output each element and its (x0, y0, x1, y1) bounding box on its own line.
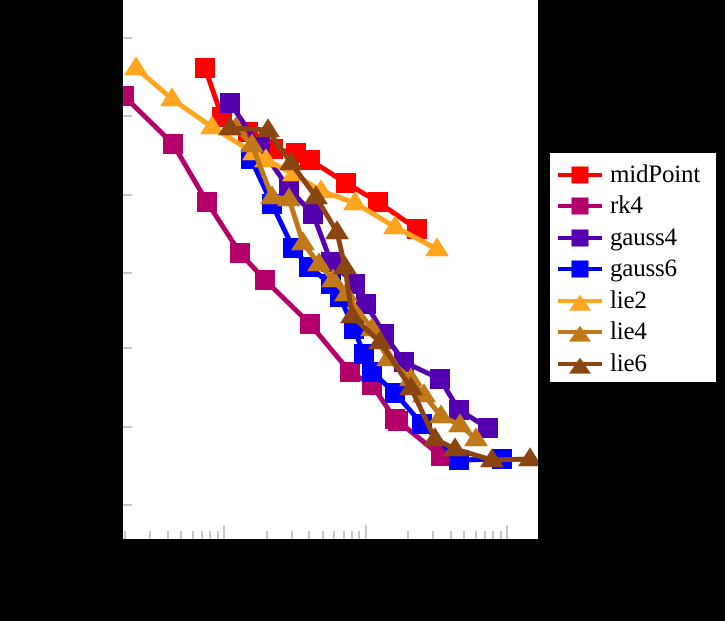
marker-rk4-5 (300, 314, 320, 334)
legend-label-lie6: lie6 (604, 351, 647, 377)
legend-marker-triangle-lie4 (569, 326, 591, 342)
legend-symbol-gauss6 (556, 256, 604, 282)
legend-entry-midPoint[interactable]: midPoint (556, 159, 710, 191)
legend-marker-square-gauss6 (572, 261, 589, 278)
figure-root: midPointrk4gauss4gauss6lie2lie4lie6 (0, 0, 725, 621)
legend-entry-rk4[interactable]: rk4 (556, 191, 710, 223)
marker-midPoint-5 (300, 150, 320, 170)
legend-marker-square-midPoint (572, 166, 589, 183)
legend-entry-lie2[interactable]: lie2 (556, 285, 710, 317)
series-gauss4 (220, 93, 498, 438)
marker-rk4-1 (163, 134, 183, 154)
legend-label-rk4: rk4 (604, 193, 643, 219)
marker-gauss4-11 (478, 418, 498, 438)
legend: midPointrk4gauss4gauss6lie2lie4lie6 (549, 152, 717, 383)
legend-entry-lie6[interactable]: lie6 (556, 348, 710, 380)
legend-label-lie4: lie4 (604, 319, 647, 345)
legend-entry-lie4[interactable]: lie4 (556, 317, 710, 349)
marker-midPoint-7 (368, 192, 388, 212)
legend-marker-square-rk4 (572, 198, 589, 215)
marker-rk4-2 (197, 192, 217, 212)
legend-marker-square-gauss4 (572, 229, 589, 246)
plot-clip (123, 0, 538, 539)
marker-rk4-9 (388, 411, 408, 431)
marker-midPoint-6 (336, 173, 356, 193)
marker-rk4-0 (123, 86, 134, 106)
marker-midPoint-0 (195, 58, 215, 78)
legend-symbol-midPoint (556, 162, 604, 188)
legend-label-midPoint: midPoint (604, 162, 700, 188)
legend-symbol-gauss4 (556, 225, 604, 251)
legend-marker-triangle-lie6 (569, 357, 591, 373)
legend-symbol-lie6 (556, 351, 604, 377)
marker-rk4-6 (340, 362, 360, 382)
marker-lie2-0 (124, 56, 148, 75)
legend-symbol-lie2 (556, 288, 604, 314)
series-line-lie6 (230, 128, 530, 460)
marker-gauss4-9 (430, 369, 450, 389)
legend-entry-gauss6[interactable]: gauss6 (556, 254, 710, 286)
legend-label-gauss4: gauss4 (604, 225, 677, 251)
series-lie6 (218, 116, 538, 467)
legend-label-gauss6: gauss6 (604, 256, 677, 282)
marker-rk4-3 (230, 243, 250, 263)
marker-rk4-4 (255, 270, 275, 290)
legend-entries: midPointrk4gauss4gauss6lie2lie4lie6 (556, 159, 710, 376)
legend-entry-gauss4[interactable]: gauss4 (556, 222, 710, 254)
marker-lie6-4 (325, 220, 349, 239)
legend-label-lie2: lie2 (604, 288, 647, 314)
series-layer (123, 0, 538, 539)
legend-symbol-lie4 (556, 319, 604, 345)
legend-marker-triangle-lie2 (569, 294, 591, 310)
marker-gauss4-0 (220, 93, 240, 113)
marker-lie6-12 (518, 447, 538, 466)
legend-symbol-rk4 (556, 193, 604, 219)
plot-area (123, 0, 538, 539)
